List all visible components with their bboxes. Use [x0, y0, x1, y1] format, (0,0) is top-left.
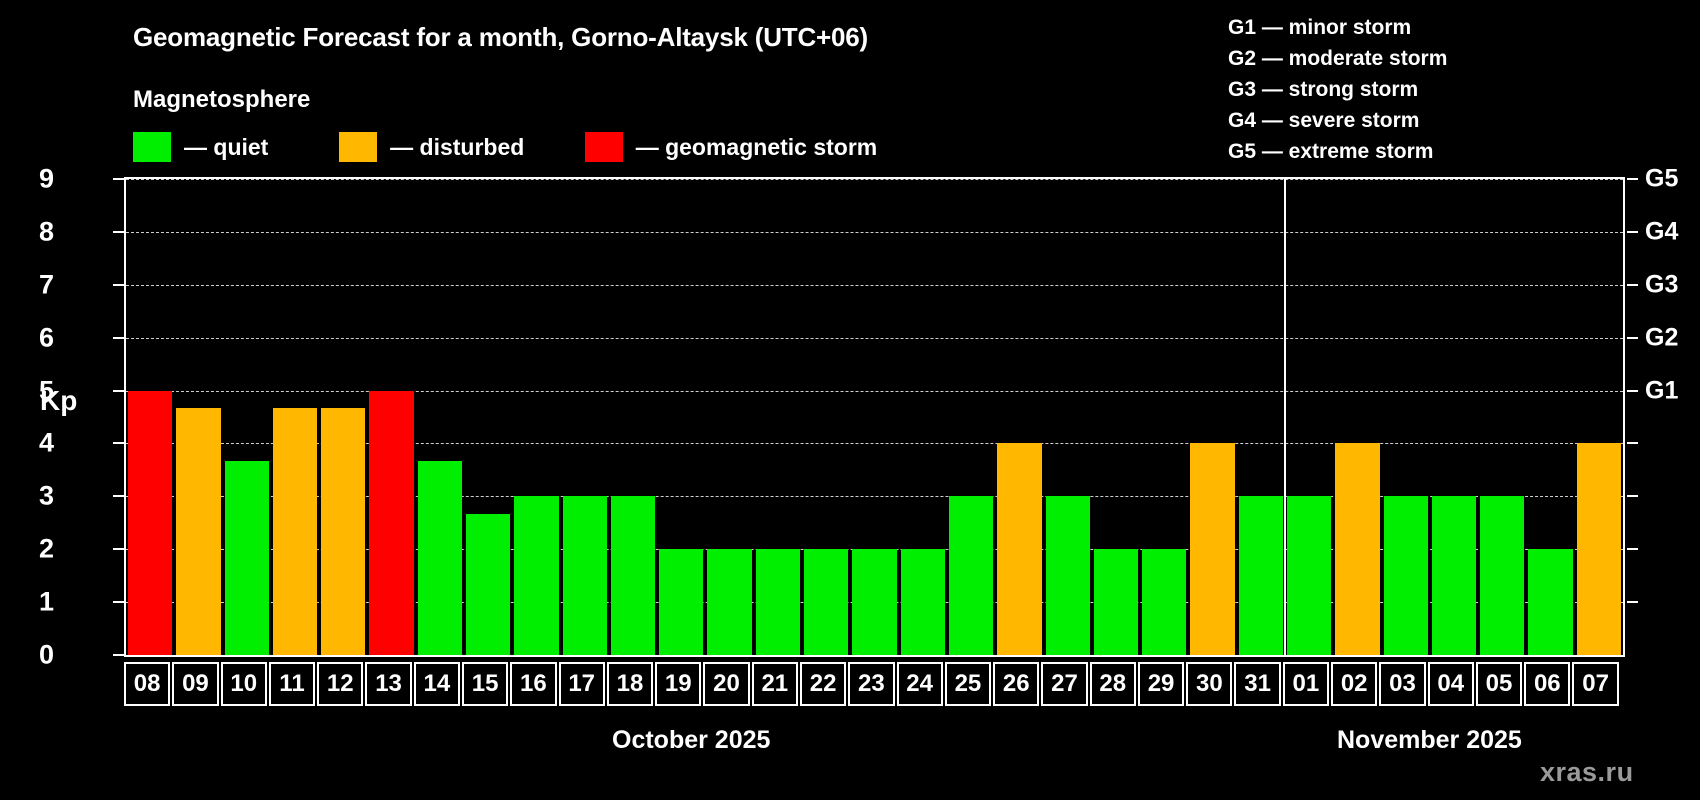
g-tick-label-g5: G5 — [1645, 165, 1678, 194]
bar-23 — [852, 549, 896, 655]
bar-24 — [901, 549, 945, 655]
date-label-21: 21 — [752, 662, 798, 706]
date-label-20: 20 — [703, 662, 749, 706]
bar-06 — [1528, 549, 1572, 655]
g-tick-mark-g5 — [1627, 178, 1638, 180]
legend-label-disturbed: — disturbed — [390, 134, 524, 161]
date-label-02: 02 — [1331, 662, 1377, 706]
bar-21 — [756, 549, 800, 655]
gscale-row-g5: G5 — extreme storm — [1228, 136, 1447, 167]
g-tick-mark-g1 — [1627, 390, 1638, 392]
bar-25 — [949, 496, 993, 655]
y-tick-label-0: 0 — [0, 640, 54, 671]
page-title: Geomagnetic Forecast for a month, Gorno-… — [133, 22, 868, 53]
g-tick-label-g4: G4 — [1645, 217, 1678, 246]
g-axis-minor-tick-2 — [1627, 548, 1638, 550]
y-tick-mark-7 — [113, 284, 124, 286]
bar-14 — [418, 461, 462, 655]
date-label-26: 26 — [993, 662, 1039, 706]
gscale-row-g4: G4 — severe storm — [1228, 105, 1447, 136]
bar-31 — [1239, 496, 1283, 655]
bar-20 — [707, 549, 751, 655]
date-label-31: 31 — [1234, 662, 1280, 706]
bar-01 — [1287, 496, 1331, 655]
bar-11 — [273, 408, 317, 655]
bar-08 — [128, 391, 172, 655]
magnetosphere-legend: — quiet— disturbed— geomagnetic storm — [133, 130, 877, 164]
date-label-09: 09 — [172, 662, 218, 706]
y-tick-label-2: 2 — [0, 534, 54, 565]
bar-12 — [321, 408, 365, 655]
legend-entry-storm: — geomagnetic storm — [585, 130, 878, 164]
y-tick-label-9: 9 — [0, 164, 54, 195]
bar-16 — [514, 496, 558, 655]
date-label-19: 19 — [655, 662, 701, 706]
y-tick-mark-2 — [113, 548, 124, 550]
bar-03 — [1384, 496, 1428, 655]
date-label-24: 24 — [897, 662, 943, 706]
bar-05 — [1480, 496, 1524, 655]
bar-17 — [563, 496, 607, 655]
bar-30 — [1190, 443, 1234, 655]
plot-inner — [126, 179, 1623, 655]
y-tick-mark-9 — [113, 178, 124, 180]
g-tick-mark-g2 — [1627, 337, 1638, 339]
date-label-15: 15 — [462, 662, 508, 706]
date-label-23: 23 — [848, 662, 894, 706]
y-tick-mark-1 — [113, 601, 124, 603]
legend-swatch-disturbed-icon — [339, 132, 377, 162]
date-label-03: 03 — [1379, 662, 1425, 706]
month-caption: October 2025 — [612, 726, 770, 755]
date-label-10: 10 — [221, 662, 267, 706]
bar-27 — [1046, 496, 1090, 655]
g-tick-label-g1: G1 — [1645, 376, 1678, 405]
y-tick-label-3: 3 — [0, 481, 54, 512]
y-tick-label-5: 5 — [0, 375, 54, 406]
date-label-11: 11 — [269, 662, 315, 706]
g-tick-mark-g3 — [1627, 284, 1638, 286]
gscale-row-g2: G2 — moderate storm — [1228, 43, 1447, 74]
bar-10 — [225, 461, 269, 655]
y-tick-label-8: 8 — [0, 216, 54, 247]
date-label-06: 06 — [1524, 662, 1570, 706]
y-tick-label-1: 1 — [0, 587, 54, 618]
date-label-27: 27 — [1041, 662, 1087, 706]
date-label-14: 14 — [414, 662, 460, 706]
y-tick-mark-4 — [113, 442, 124, 444]
magnetosphere-legend-heading: Magnetosphere — [133, 86, 310, 114]
watermark: xras.ru — [1540, 757, 1634, 788]
legend-entry-disturbed: — disturbed — [339, 130, 524, 164]
g-tick-label-g3: G3 — [1645, 270, 1678, 299]
legend-swatch-storm-icon — [585, 132, 623, 162]
bar-28 — [1094, 549, 1138, 655]
date-label-01: 01 — [1283, 662, 1329, 706]
date-label-18: 18 — [607, 662, 653, 706]
gscale-row-g1: G1 — minor storm — [1228, 12, 1447, 43]
bar-29 — [1142, 549, 1186, 655]
g-tick-mark-g4 — [1627, 231, 1638, 233]
date-label-30: 30 — [1186, 662, 1232, 706]
legend-label-quiet: — quiet — [184, 134, 268, 161]
bar-19 — [659, 549, 703, 655]
y-tick-mark-5 — [113, 390, 124, 392]
date-label-22: 22 — [800, 662, 846, 706]
date-axis: 0809101112131415161718192021222324252627… — [124, 662, 1621, 706]
g-axis-minor-tick-1 — [1627, 601, 1638, 603]
bar-15 — [466, 514, 510, 655]
g-tick-label-g2: G2 — [1645, 323, 1678, 352]
date-label-07: 07 — [1572, 662, 1618, 706]
date-label-12: 12 — [317, 662, 363, 706]
date-label-17: 17 — [559, 662, 605, 706]
y-tick-label-7: 7 — [0, 269, 54, 300]
date-label-08: 08 — [124, 662, 170, 706]
date-label-29: 29 — [1138, 662, 1184, 706]
bar-09 — [176, 408, 220, 655]
y-tick-mark-0 — [113, 654, 124, 656]
g-axis-minor-tick-3 — [1627, 495, 1638, 497]
y-tick-label-6: 6 — [0, 322, 54, 353]
bar-02 — [1335, 443, 1379, 655]
legend-entry-quiet: — quiet — [133, 130, 268, 164]
bar-26 — [997, 443, 1041, 655]
date-label-28: 28 — [1090, 662, 1136, 706]
month-caption: November 2025 — [1337, 726, 1522, 755]
y-tick-mark-3 — [113, 495, 124, 497]
legend-swatch-quiet-icon — [133, 132, 171, 162]
date-label-04: 04 — [1428, 662, 1474, 706]
bar-04 — [1432, 496, 1476, 655]
gscale-row-g3: G3 — strong storm — [1228, 74, 1447, 105]
date-label-05: 05 — [1476, 662, 1522, 706]
bar-22 — [804, 549, 848, 655]
bar-18 — [611, 496, 655, 655]
date-label-13: 13 — [365, 662, 411, 706]
plot-area — [124, 177, 1625, 657]
bar-13 — [369, 391, 413, 655]
bar-07 — [1577, 443, 1621, 655]
month-divider-line — [1284, 179, 1286, 655]
date-label-25: 25 — [945, 662, 991, 706]
y-tick-mark-6 — [113, 337, 124, 339]
gscale-legend: G1 — minor stormG2 — moderate stormG3 — … — [1228, 12, 1447, 167]
date-label-16: 16 — [510, 662, 556, 706]
legend-label-storm: — geomagnetic storm — [636, 134, 878, 161]
bars-layer — [126, 179, 1623, 655]
y-tick-label-4: 4 — [0, 428, 54, 459]
g-axis-minor-tick-4 — [1627, 442, 1638, 444]
y-tick-mark-8 — [113, 231, 124, 233]
